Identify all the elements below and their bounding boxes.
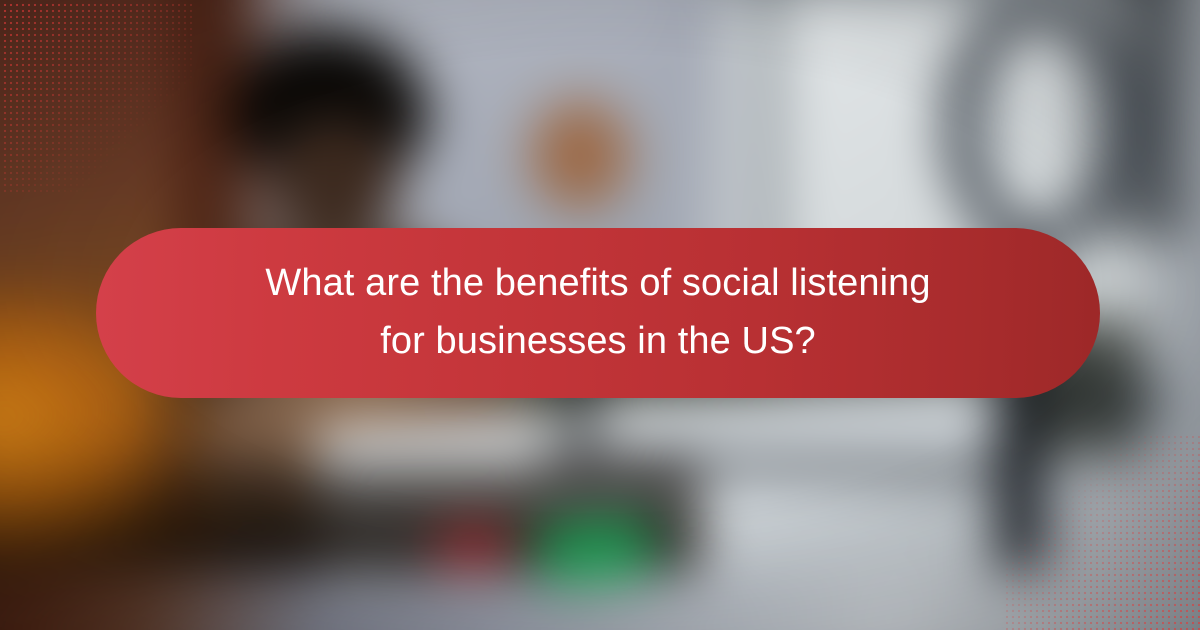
background-person-secondary — [530, 100, 630, 210]
title-pill: What are the benefits of social listenin… — [96, 228, 1100, 398]
person-face — [270, 120, 400, 240]
social-card: What are the benefits of social listenin… — [0, 0, 1200, 630]
page-title: What are the benefits of social listenin… — [265, 255, 930, 371]
ring-light-icon — [945, 0, 1135, 250]
desk-green-object — [538, 518, 652, 586]
desk-red-object — [437, 526, 510, 571]
